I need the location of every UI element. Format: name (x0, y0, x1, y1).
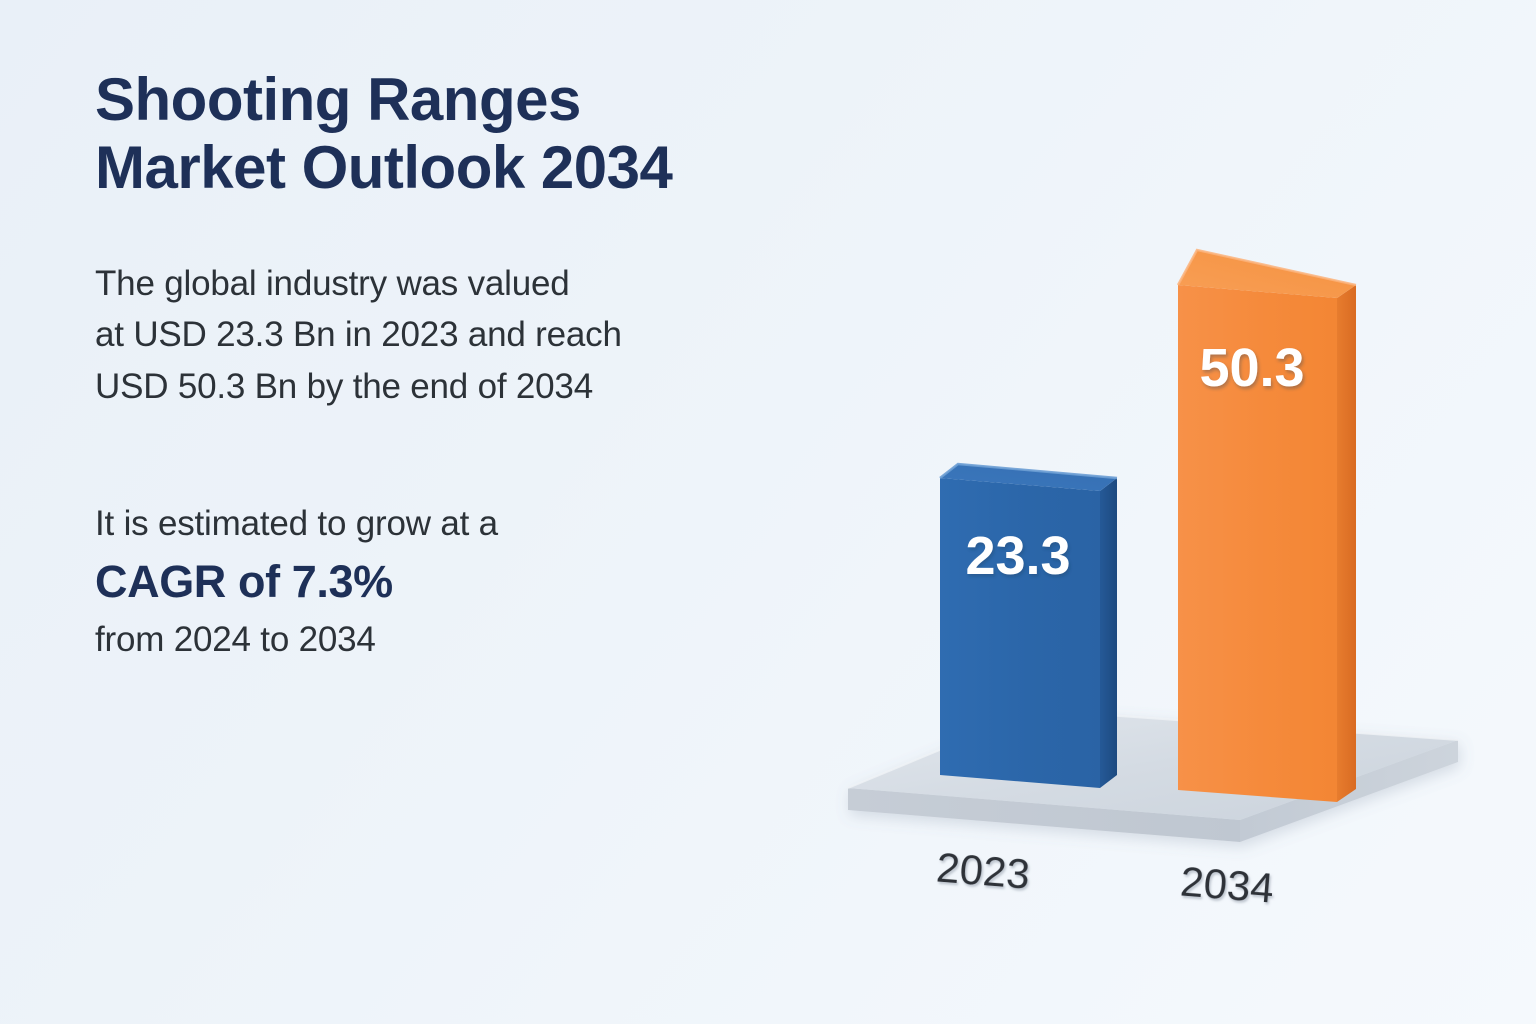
axis-tick-label-2034: 2034 (1179, 857, 1276, 911)
axis-tick-label-2023: 2023 (935, 843, 1032, 897)
summary-paragraph: The global industry was valued at USD 23… (95, 258, 995, 413)
text-column: Shooting Ranges Market Outlook 2034 The … (95, 66, 995, 662)
chart-platform (848, 710, 1458, 842)
cagr-period-text: from 2024 to 2034 (95, 617, 995, 663)
platform-top-highlight (848, 710, 1458, 788)
summary-block: The global industry was valued at USD 23… (95, 258, 995, 413)
bar-2034-top-edge-highlight (1178, 250, 1356, 285)
platform-top-surface (848, 710, 1458, 820)
bar-2034[interactable]: 50.3 (1178, 250, 1356, 802)
bar-2034-top-face (1178, 250, 1356, 298)
platform-front-right-face (1240, 740, 1458, 842)
bar-2034-value-label: 50.3 (1199, 338, 1304, 398)
page-title: Shooting Ranges Market Outlook 2034 (95, 66, 995, 202)
cagr-value-text: CAGR of 7.3% (95, 552, 995, 612)
infographic-canvas: Shooting Ranges Market Outlook 2034 The … (0, 0, 1536, 1024)
bar-2034-side-face (1337, 285, 1356, 802)
cagr-lead-text: It is estimated to grow at a (95, 501, 995, 547)
bar-2023-side-face (1100, 478, 1117, 788)
cagr-block: It is estimated to grow at a CAGR of 7.3… (95, 501, 995, 662)
bar-2034-front-face (1178, 285, 1337, 802)
platform-front-left-face (848, 788, 1240, 842)
